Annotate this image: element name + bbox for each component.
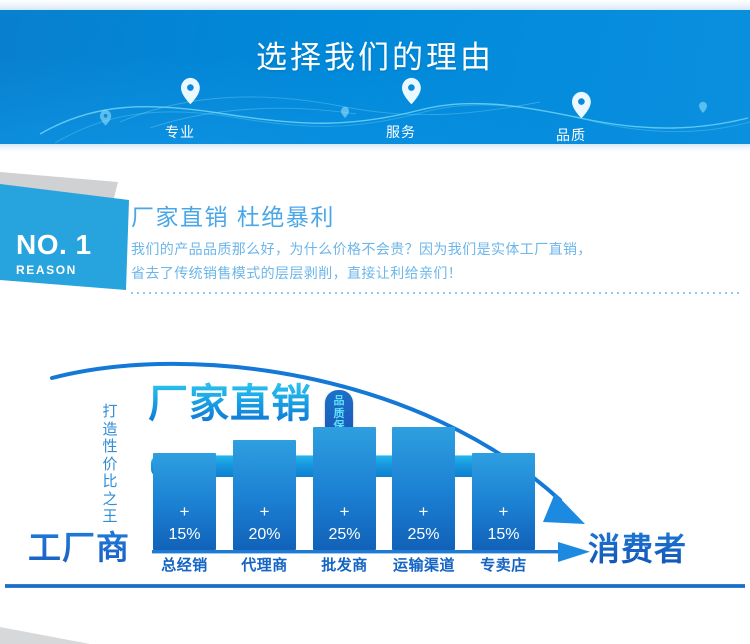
table-row: + 25% — [392, 427, 455, 550]
bar-category-2: 批发商 — [308, 557, 381, 575]
bypass-arrowhead — [543, 493, 585, 524]
bar-value-3: 25% — [392, 526, 455, 544]
reason-section: NO. 1 REASON 厂家直销 杜绝暴利 我们的产品品质那么好，为什么价格不… — [0, 168, 750, 300]
consumer-label: 消费者 — [588, 531, 743, 567]
vertical-slogan: 打造性价比之王 — [99, 403, 121, 526]
bar-plus-4: + — [472, 503, 535, 520]
reason-badge-text: NO. 1 REASON — [16, 231, 112, 276]
promo-page: 选择我们的理由 专业 服务 品质 NO. 1 REASON 厂家直销 杜绝暴利 … — [0, 0, 750, 644]
table-row: + 25% — [313, 427, 376, 550]
bar-plus-0: + — [153, 503, 216, 520]
price-chain-diagram: 打造性价比之王 工厂商 厂家直销 品质保证 + 15% + 20% + 25% … — [0, 348, 750, 593]
bar-plus-2: + — [313, 503, 376, 520]
bar-plus-3: + — [392, 503, 455, 520]
reason-text-block: 厂家直销 杜绝暴利 我们的产品品质那么好，为什么价格不会贵？因为我们是实体工厂直… — [131, 168, 743, 285]
page-title: 选择我们的理由 — [0, 41, 750, 75]
factory-label: 工厂商 — [28, 530, 152, 566]
pin-label-2: 服务 — [386, 124, 416, 140]
bar-category-4: 专卖店 — [467, 557, 540, 575]
reason-heading: 厂家直销 杜绝暴利 — [131, 168, 743, 231]
bar-category-3: 运输渠道 — [379, 557, 469, 575]
next-section-ribbon-corner — [0, 627, 90, 644]
reason-dotted-divider — [131, 292, 743, 294]
bar-value-2: 25% — [313, 526, 376, 544]
header-blue-band: 选择我们的理由 专业 服务 品质 — [0, 10, 750, 144]
reason-subtitle: REASON — [16, 264, 112, 276]
header-wave-graphic — [0, 10, 750, 144]
bar-category-1: 代理商 — [228, 557, 301, 575]
diagram-baseline — [5, 584, 745, 588]
table-row: + 20% — [233, 440, 296, 550]
reason-number: NO. 1 — [16, 231, 112, 259]
header-bottom-fade — [0, 144, 750, 152]
table-row: + 15% — [472, 453, 535, 550]
header-banner: 选择我们的理由 专业 服务 品质 — [0, 0, 750, 152]
direct-sale-label: 厂家直销 — [148, 381, 348, 427]
bar-category-0: 总经销 — [148, 557, 221, 575]
table-row: + 15% — [153, 453, 216, 550]
reason-body-line-2: 省去了传统销售模式的层层剥削，直接让利给亲们！ — [131, 261, 743, 285]
bar-value-4: 15% — [472, 526, 535, 544]
pin-label-1: 专业 — [165, 124, 195, 140]
bar-value-0: 15% — [153, 526, 216, 544]
bar-value-1: 20% — [233, 526, 296, 544]
bar-plus-1: + — [233, 503, 296, 520]
pin-label-3: 品质 — [556, 127, 586, 143]
reason-body-line-1: 我们的产品品质那么好，为什么价格不会贵？因为我们是实体工厂直销， — [131, 231, 743, 261]
